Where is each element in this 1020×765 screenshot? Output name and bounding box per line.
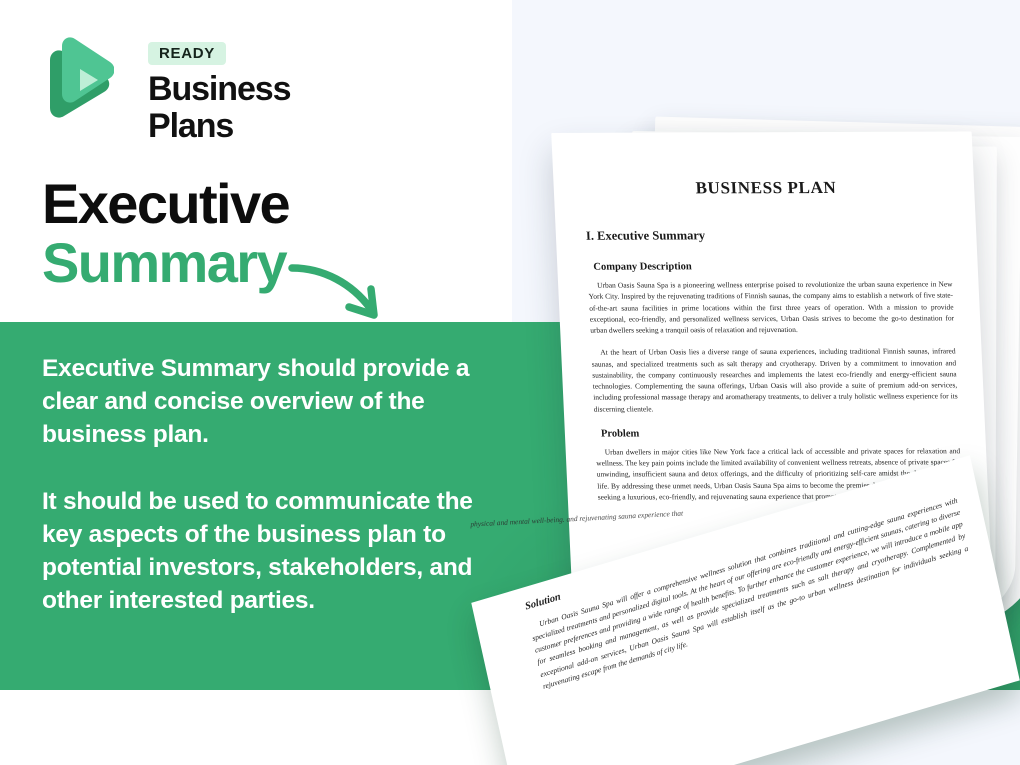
summary-panel: Executive Summary should provide a clear… (0, 322, 1020, 690)
panel-paragraph-1: Executive Summary should provide a clear… (42, 352, 488, 451)
page-title-line2: Summary (42, 234, 289, 291)
play-triangle-logo-icon (42, 36, 114, 122)
slide-canvas: READY Business Plans Executive Summary E… (0, 0, 1020, 765)
ready-badge: READY (148, 42, 226, 65)
page-title: Executive Summary (42, 175, 289, 291)
brand-logo[interactable]: READY Business Plans (42, 36, 372, 126)
curved-arrow-down-right-icon (286, 258, 396, 328)
panel-copy: Executive Summary should provide a clear… (42, 352, 488, 617)
brand-name: Business Plans (148, 71, 372, 144)
page-title-line1: Executive (42, 175, 289, 232)
panel-paragraph-2: It should be used to communicate the key… (42, 485, 488, 617)
